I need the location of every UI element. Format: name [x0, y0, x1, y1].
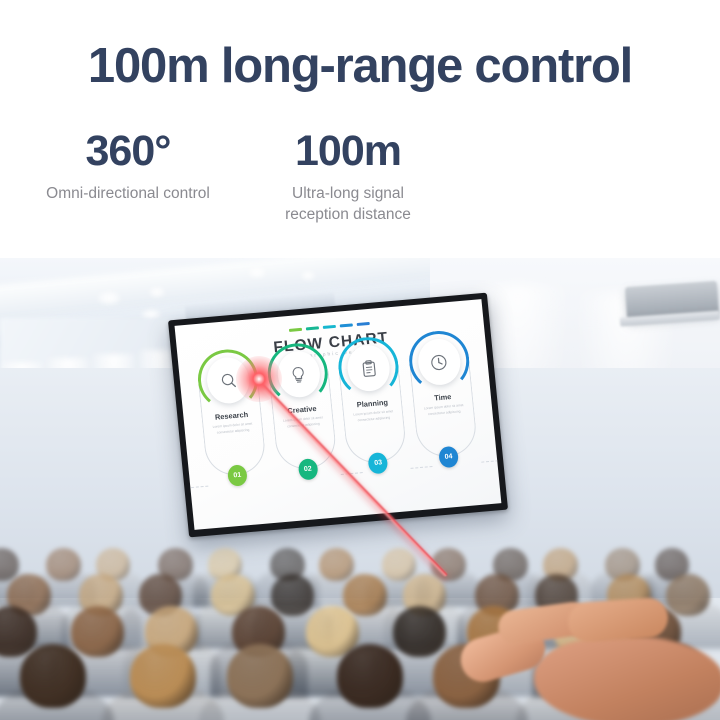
audience-member	[382, 548, 417, 581]
accent-dash	[340, 323, 353, 327]
ceiling-downlight	[96, 290, 122, 306]
ceiling-downlight	[247, 266, 267, 279]
node-badge: 01	[227, 464, 248, 487]
laser-pointer-dot	[236, 356, 282, 402]
accent-dash	[289, 328, 302, 332]
node-description: Lorem ipsum dolor sit amet consectetur a…	[209, 421, 256, 436]
finger	[567, 597, 670, 644]
product-marketing-image: 100m long-range control 360° Omni-direct…	[0, 0, 720, 720]
stat-value: 100m	[258, 128, 438, 175]
clock-icon	[429, 352, 450, 373]
audience-member	[227, 644, 293, 708]
node-badge: 04	[438, 446, 459, 469]
presenter-hand	[438, 600, 720, 720]
ceiling-downlight	[148, 286, 166, 298]
audience-member	[20, 644, 86, 708]
stat-caption: Omni-directional control	[38, 184, 218, 205]
flow-node-time: TimeLorem ipsum dolor sit amet consectet…	[405, 358, 482, 459]
audience-member	[319, 548, 354, 581]
stat-item-100m: 100m Ultra-long signal reception distanc…	[258, 128, 438, 226]
palm-base	[534, 636, 720, 720]
audience-member	[337, 644, 403, 708]
flow-chart-nodes: ResearchLorem ipsum dolor sit amet conse…	[190, 358, 491, 523]
node-arch: PlanningLorem ipsum dolor sit amet conse…	[339, 365, 408, 466]
audience-member	[343, 574, 387, 616]
stat-item-360: 360° Omni-directional control	[38, 128, 218, 226]
stat-value: 360°	[38, 128, 218, 175]
slide-surface: FLOW CHART Infographic Design ResearchLo…	[175, 299, 502, 530]
accent-dash	[306, 326, 319, 330]
audience-member	[271, 574, 315, 616]
accent-dash	[323, 325, 336, 329]
node-description: Lorem ipsum dolor sit amet consectetur a…	[421, 403, 468, 418]
presentation-screen: FLOW CHART Infographic Design ResearchLo…	[168, 293, 508, 538]
ceiling-downlight	[300, 270, 316, 281]
node-arch: TimeLorem ipsum dolor sit amet consectet…	[409, 358, 478, 459]
audience-member	[46, 548, 81, 581]
node-description: Lorem ipsum dolor sit amet consectetur a…	[350, 409, 397, 424]
flow-node-planning: PlanningLorem ipsum dolor sit amet conse…	[335, 364, 412, 465]
node-connector	[186, 486, 208, 489]
audience-member	[71, 606, 124, 657]
node-badge: 02	[297, 458, 318, 481]
accent-dash	[357, 322, 370, 326]
page-title: 100m long-range control	[0, 38, 720, 94]
node-connector	[411, 466, 433, 469]
stat-caption: Ultra-long signal reception distance	[258, 184, 438, 226]
stat-list: 360° Omni-directional control 100m Ultra…	[38, 128, 458, 226]
node-badge: 03	[368, 452, 389, 475]
audience-member	[130, 644, 196, 708]
clipboard-icon	[358, 358, 379, 379]
slide-accent-dashes	[289, 322, 370, 332]
lightbulb-icon	[288, 364, 309, 385]
